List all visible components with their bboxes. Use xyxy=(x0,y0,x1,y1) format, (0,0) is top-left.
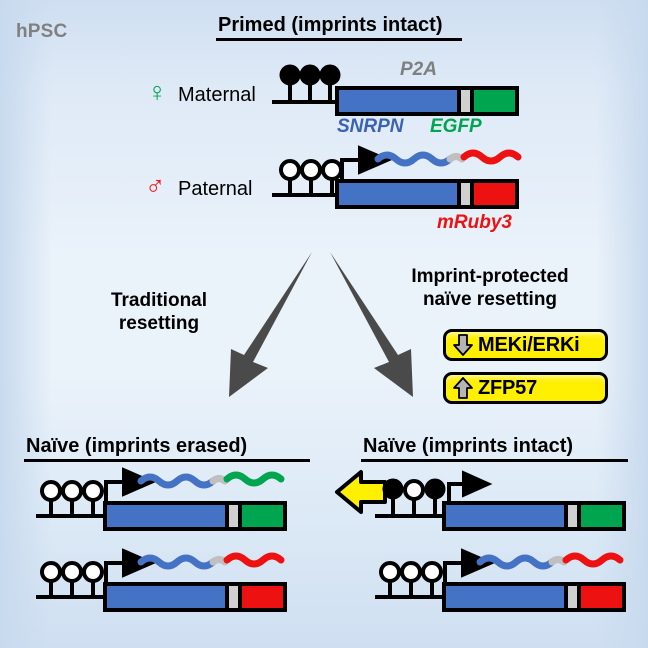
erased-allele-row-2 xyxy=(36,556,285,610)
intact-allele-row-1 xyxy=(375,480,624,529)
methyl-lollipop-open xyxy=(381,563,441,597)
paternal-label: Paternal xyxy=(178,179,253,199)
traditional-resetting-line1: Traditional xyxy=(84,289,234,312)
traditional-resetting-arrow xyxy=(229,252,312,397)
paternal-allele xyxy=(272,153,518,207)
figure-canvas: hPSC Primed (imprints intact) ♀ Maternal xyxy=(0,0,648,648)
down-arrow-icon xyxy=(452,333,474,357)
imprint-protected-line2: naïve resetting xyxy=(381,288,599,311)
erased-allele-row-1 xyxy=(36,475,285,529)
naive-intact-heading: Naïve (imprints intact) xyxy=(363,436,573,456)
transcript-rna xyxy=(141,475,281,485)
transcript-rna xyxy=(480,556,620,566)
imprint-protected-resetting-label: Imprint-protected naïve resetting xyxy=(381,265,599,311)
snrpn-gene-box xyxy=(444,503,566,529)
snrpn-gene-box xyxy=(105,584,227,610)
naive-intact-heading-underline xyxy=(361,459,628,462)
treatment-box-meki-erki[interactable]: MEKi/ERKi xyxy=(443,329,608,361)
snrpn-gene-box xyxy=(444,584,566,610)
methyl-lollipop-mixed xyxy=(384,480,444,516)
male-symbol-icon: ♂ xyxy=(145,172,165,199)
mruby3-reporter-box xyxy=(579,584,624,610)
snrpn-gene-box xyxy=(337,181,459,207)
naive-erased-heading-underline xyxy=(24,459,310,462)
imprint-protected-line1: Imprint-protected xyxy=(381,265,599,288)
up-arrow-icon xyxy=(452,376,474,400)
mruby3-reporter-box xyxy=(472,181,517,207)
egfp-reporter-box xyxy=(240,503,285,529)
traditional-resetting-line2: resetting xyxy=(84,312,234,335)
p2a-label: P2A xyxy=(400,60,437,79)
methyl-lollipop-open xyxy=(42,563,102,597)
methyl-lollipop-filled xyxy=(281,66,339,102)
egfp-reporter-box xyxy=(472,88,517,114)
naive-erased-heading: Naïve (imprints erased) xyxy=(26,436,247,456)
mruby3-reporter-box xyxy=(240,584,285,610)
transcript-rna xyxy=(141,556,281,566)
snrpn-label: SNRPN xyxy=(337,117,404,136)
transcript-rna xyxy=(378,153,518,163)
snrpn-gene-box xyxy=(337,88,459,114)
egfp-label: EGFP xyxy=(430,117,482,136)
methyl-lollipop-open xyxy=(42,482,102,516)
traditional-resetting-label: Traditional resetting xyxy=(84,289,234,335)
mruby3-label: mRuby3 xyxy=(437,213,512,232)
egfp-reporter-box xyxy=(579,503,624,529)
maternal-allele xyxy=(272,66,517,114)
treatment-label-zfp57: ZFP57 xyxy=(474,377,537,400)
methyl-lollipop-open xyxy=(281,161,341,195)
intact-allele-row-2 xyxy=(375,556,624,610)
snrpn-gene-box xyxy=(105,503,227,529)
highlight-arrow-icon xyxy=(337,472,385,512)
treatment-label-meki-erki: MEKi/ERKi xyxy=(474,334,580,357)
treatment-box-zfp57[interactable]: ZFP57 xyxy=(443,372,608,404)
